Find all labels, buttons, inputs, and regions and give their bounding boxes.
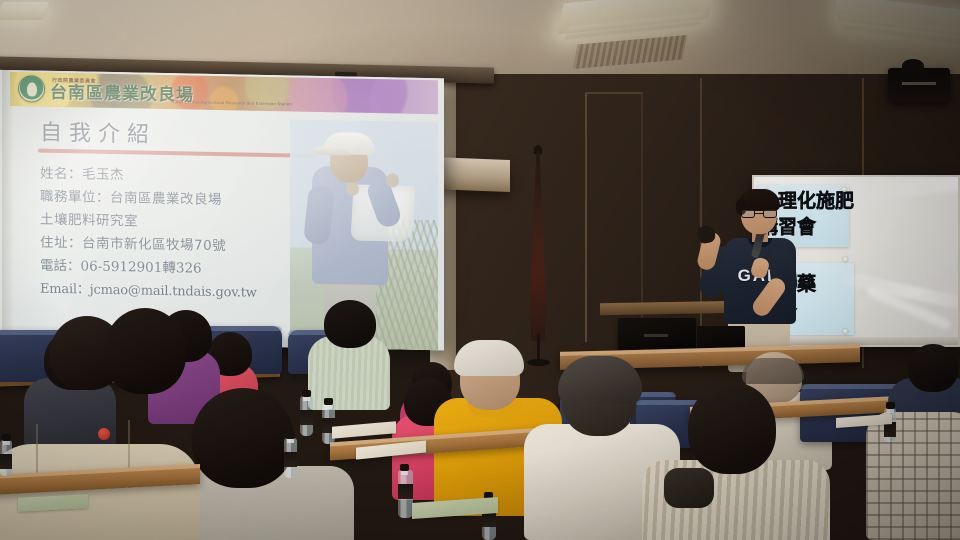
slide-left-shadow — [2, 70, 14, 342]
presenter-hair — [738, 189, 780, 211]
cap-top-button — [98, 428, 110, 440]
attendee-garment — [866, 412, 960, 540]
attendee-head — [192, 388, 294, 488]
attendee-head — [324, 300, 376, 348]
attendee-white-hair — [454, 340, 524, 376]
water-bottle — [884, 408, 896, 442]
photo-person-hand-right — [386, 173, 399, 187]
presentation-slide: 行政院農業委員會 台南區農業改良場 Tainan District Agricu… — [2, 70, 444, 350]
water-bottle — [398, 470, 413, 518]
lecture-room-photo: 行政院農業委員會 台南區農業改良場 Tainan District Agricu… — [0, 0, 960, 540]
attendee-head — [908, 344, 958, 392]
handout-paper — [332, 421, 396, 439]
poster-pin — [843, 257, 848, 262]
ceremonial-flag-stand — [527, 143, 549, 358]
slide-header-banner: 行政院農業委員會 台南區農業改良場 Tainan District Agricu… — [10, 72, 438, 114]
eyeglasses-icon — [741, 209, 777, 218]
poster-pin — [842, 187, 847, 192]
slide-line-email: Email：jcmao@mail.tndais.gov.tw — [40, 278, 300, 306]
agency-seal-logo-icon — [18, 75, 45, 103]
attendee-head — [688, 382, 776, 474]
slide-title: 自我介紹 — [40, 115, 156, 149]
water-bottle — [300, 396, 313, 436]
whiteboard-glare — [867, 175, 960, 200]
flag-cloth — [530, 151, 546, 341]
water-bottle — [0, 440, 12, 476]
photo-person-hand-left — [346, 182, 359, 195]
flag-base — [527, 359, 550, 366]
speaker-logo — [902, 82, 936, 85]
projection-screen: 行政院農業委員會 台南區農業改良場 Tainan District Agricu… — [0, 70, 444, 351]
water-bottle — [284, 438, 297, 478]
attendee-head — [104, 308, 186, 394]
wall-speaker-icon — [888, 68, 950, 102]
photo-person-cap — [323, 132, 375, 155]
poster-pin — [843, 329, 848, 334]
laptop-logo — [644, 334, 668, 337]
attendee-hair — [742, 358, 804, 384]
slide-title-rule — [38, 149, 316, 158]
attendee-hair — [558, 356, 642, 404]
slide-body: 姓名：毛玉杰 職務單位：台南區農業改良場 土壤肥料研究室 住址：台南市新化區牧場… — [40, 163, 300, 306]
attendee-shoulder — [664, 468, 714, 508]
